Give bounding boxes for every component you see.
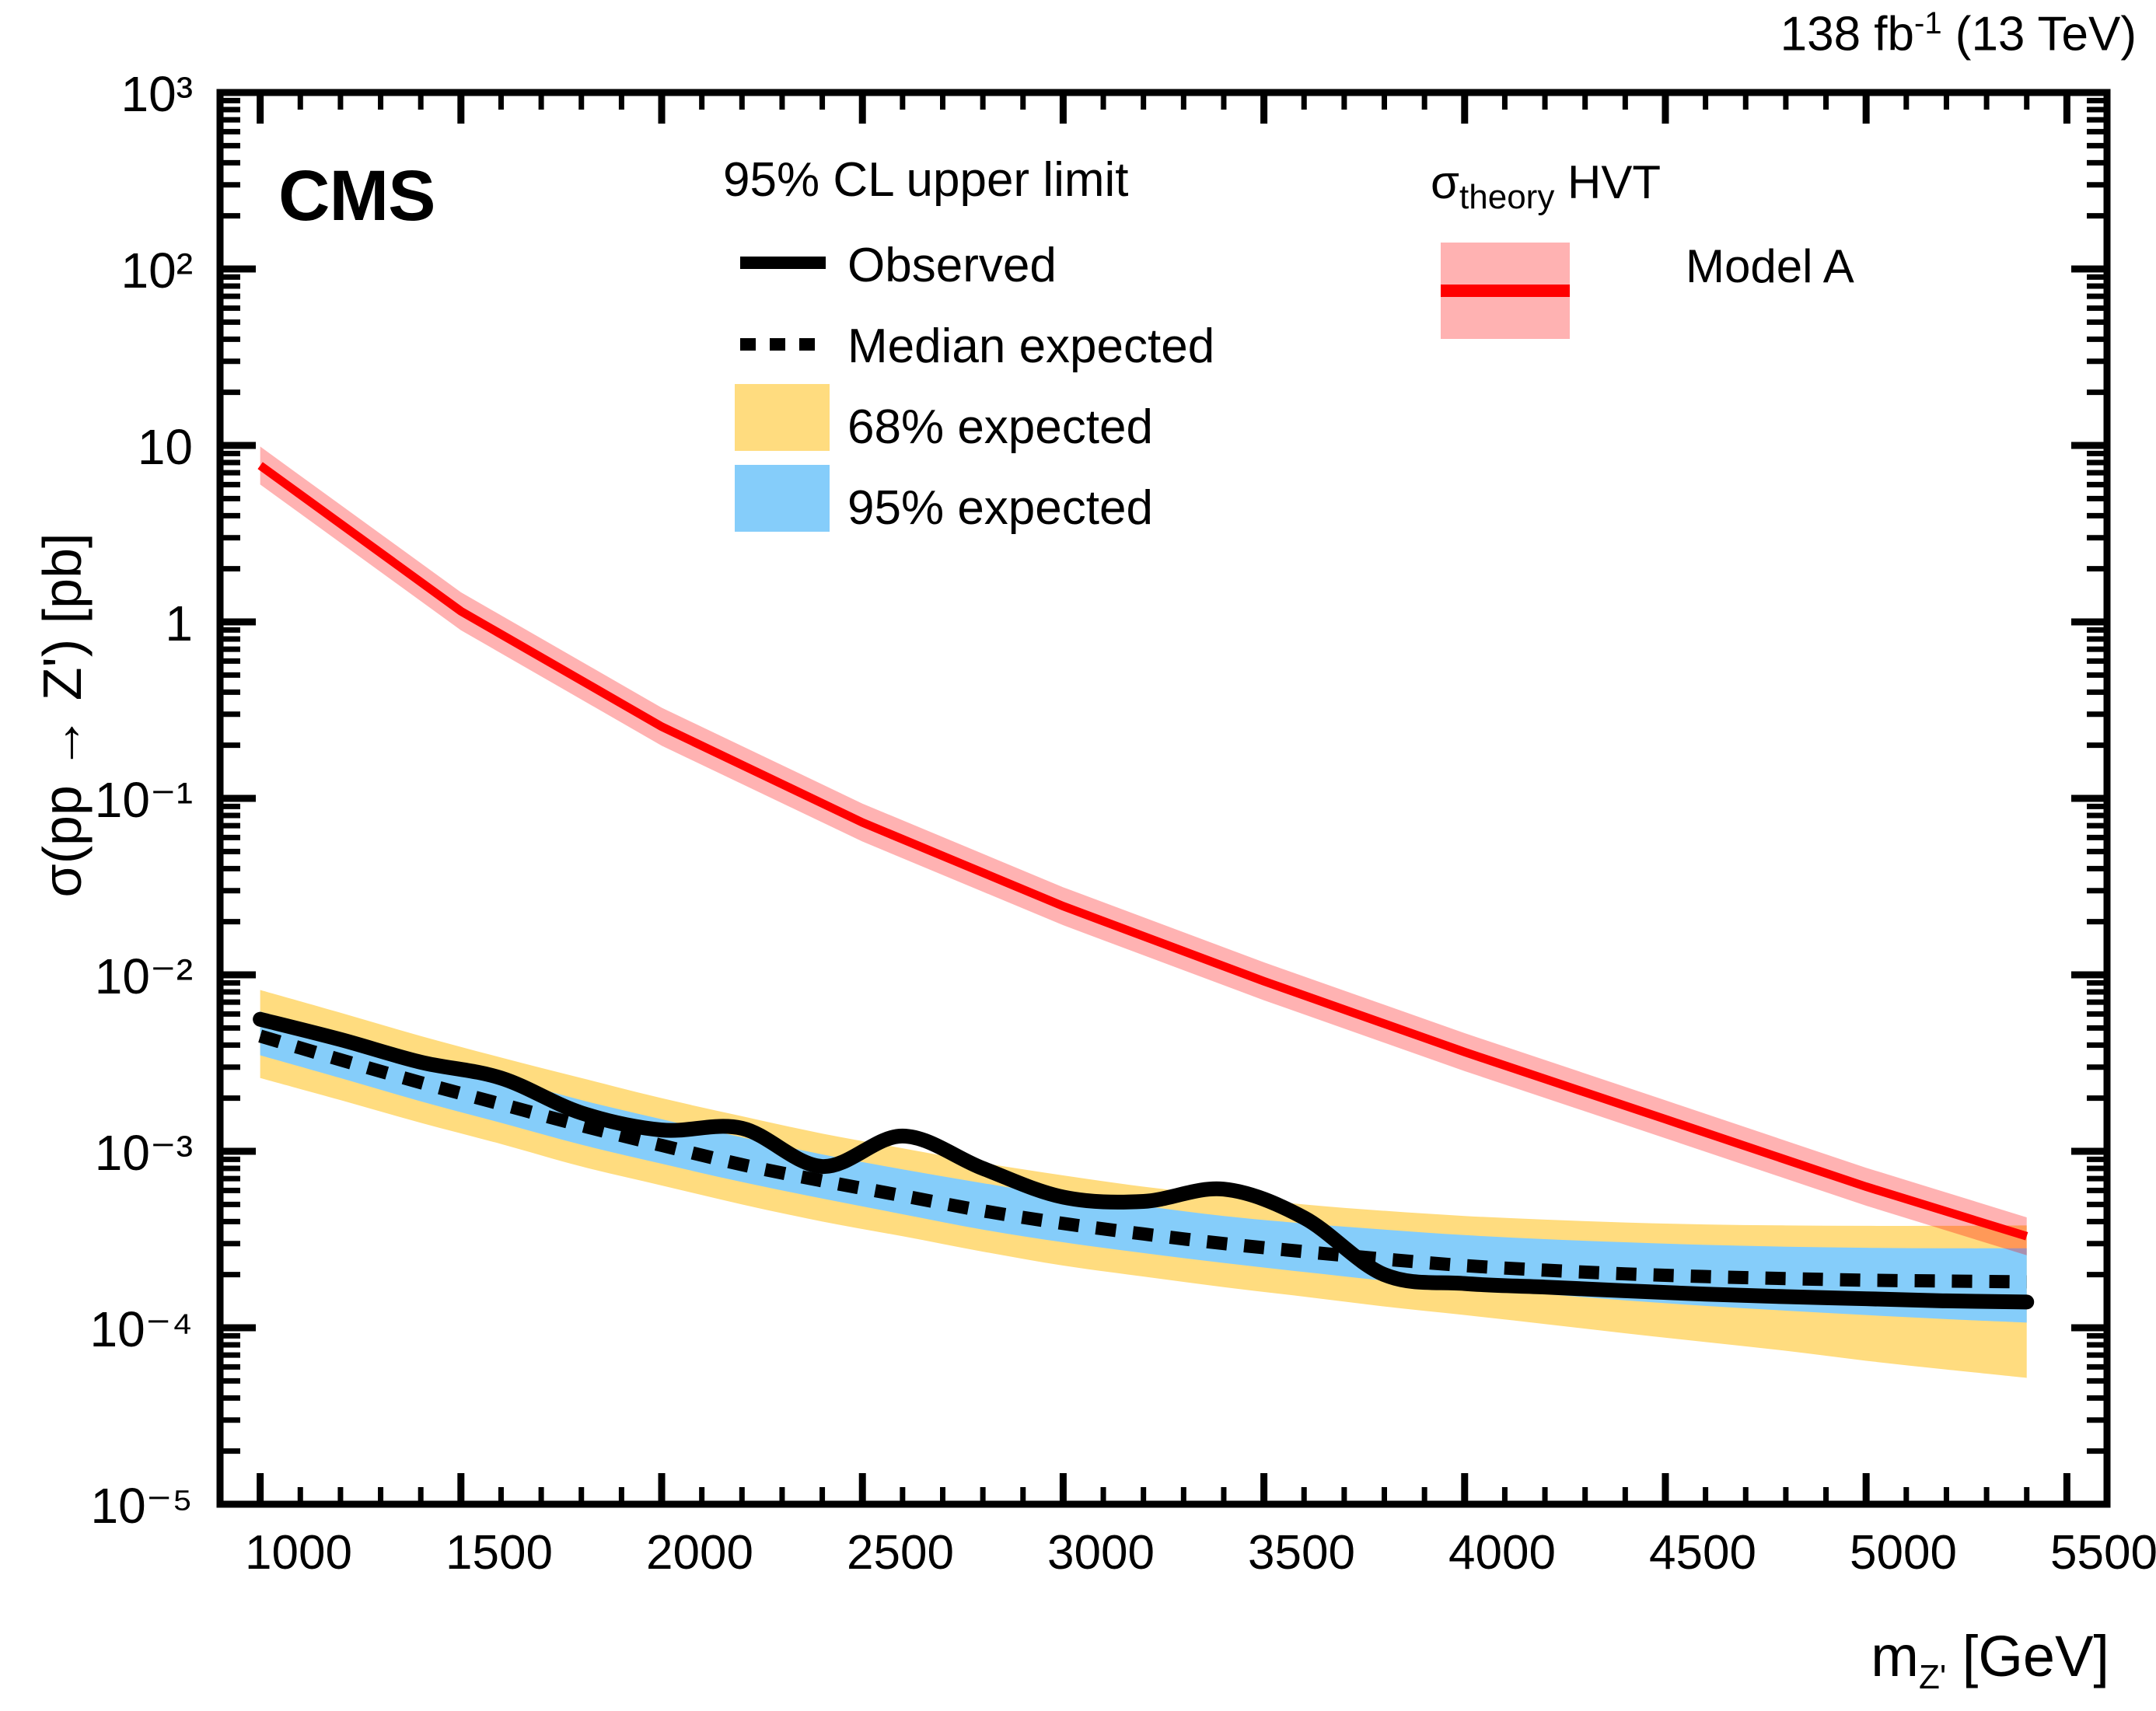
legend-swatch-95-box xyxy=(735,465,830,532)
legend-swatch-68-box xyxy=(735,384,830,451)
chart-series-group xyxy=(260,446,2027,1378)
band-68-expected xyxy=(260,990,2027,1378)
plot-root: 138 fb-1 (13 TeV) σ(pp → Z') [pb] mZ' [G… xyxy=(0,0,2156,1711)
chart-canvas xyxy=(0,0,2156,1711)
